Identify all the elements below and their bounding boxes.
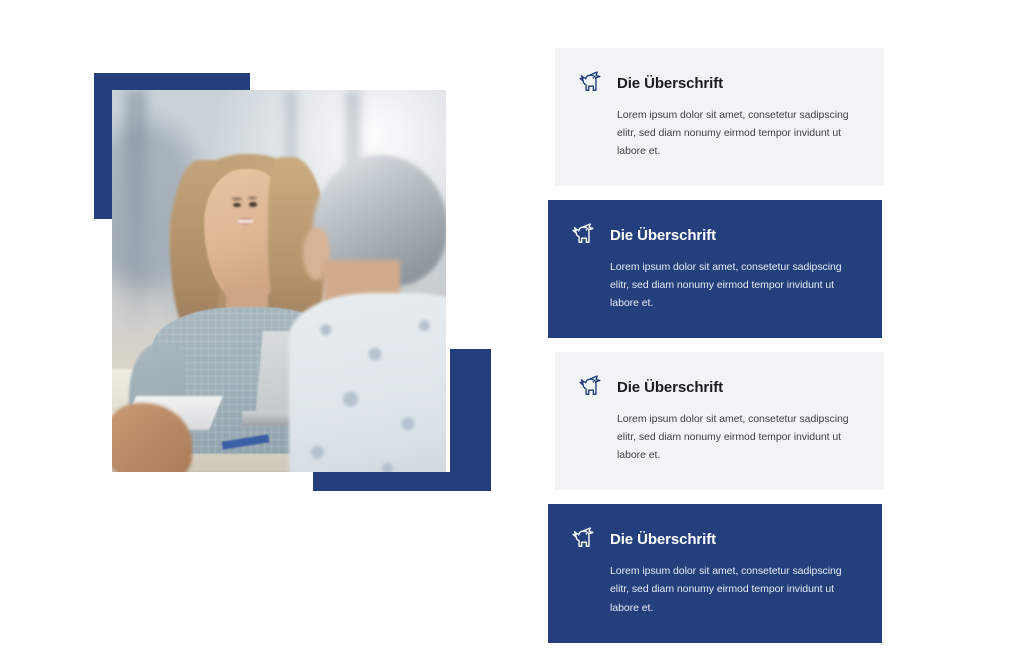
unicorn-icon	[568, 222, 598, 248]
feature-card[interactable]: Die Überschrift Lorem ipsum dolor sit am…	[555, 352, 884, 490]
feature-card[interactable]: Die Überschrift Lorem ipsum dolor sit am…	[548, 200, 882, 338]
decorative-accent-right	[450, 349, 491, 491]
feature-card[interactable]: Die Überschrift Lorem ipsum dolor sit am…	[548, 504, 882, 642]
feature-card-body: Lorem ipsum dolor sit amet, consetetur s…	[568, 562, 854, 616]
unicorn-icon	[575, 374, 605, 400]
feature-card-body: Lorem ipsum dolor sit amet, consetetur s…	[575, 410, 856, 464]
feature-card-header: Die Überschrift	[568, 526, 854, 552]
feature-card-title: Die Überschrift	[610, 531, 716, 548]
feature-card-list: Die Überschrift Lorem ipsum dolor sit am…	[548, 48, 884, 657]
feature-card-header: Die Überschrift	[575, 70, 856, 96]
page-root: Die Überschrift Lorem ipsum dolor sit am…	[0, 0, 1024, 553]
hero-photo	[112, 90, 446, 472]
decorative-accent-bottom	[313, 472, 491, 491]
patterned-blouse	[289, 293, 446, 472]
feature-card-body: Lorem ipsum dolor sit amet, consetetur s…	[575, 106, 856, 160]
person-listening	[299, 155, 446, 472]
feature-card-title: Die Überschrift	[617, 379, 723, 396]
eyebrow-left	[232, 198, 241, 200]
unicorn-icon	[568, 526, 598, 552]
unicorn-icon	[575, 70, 605, 96]
feature-card-title: Die Überschrift	[610, 227, 716, 244]
hero-photo-scene	[112, 90, 446, 472]
feature-card-body: Lorem ipsum dolor sit amet, consetetur s…	[568, 258, 854, 312]
decorative-accent-left	[94, 73, 112, 219]
media-composition	[94, 73, 491, 491]
eye-left	[233, 203, 241, 207]
feature-card[interactable]: Die Überschrift Lorem ipsum dolor sit am…	[555, 48, 884, 186]
eyebrow-right	[248, 197, 257, 199]
feature-card-header: Die Überschrift	[575, 374, 856, 400]
feature-card-title: Die Überschrift	[617, 75, 723, 92]
mouth	[238, 218, 253, 225]
feature-card-header: Die Überschrift	[568, 222, 854, 248]
decorative-accent-top	[94, 73, 250, 90]
eye-right	[249, 202, 257, 206]
